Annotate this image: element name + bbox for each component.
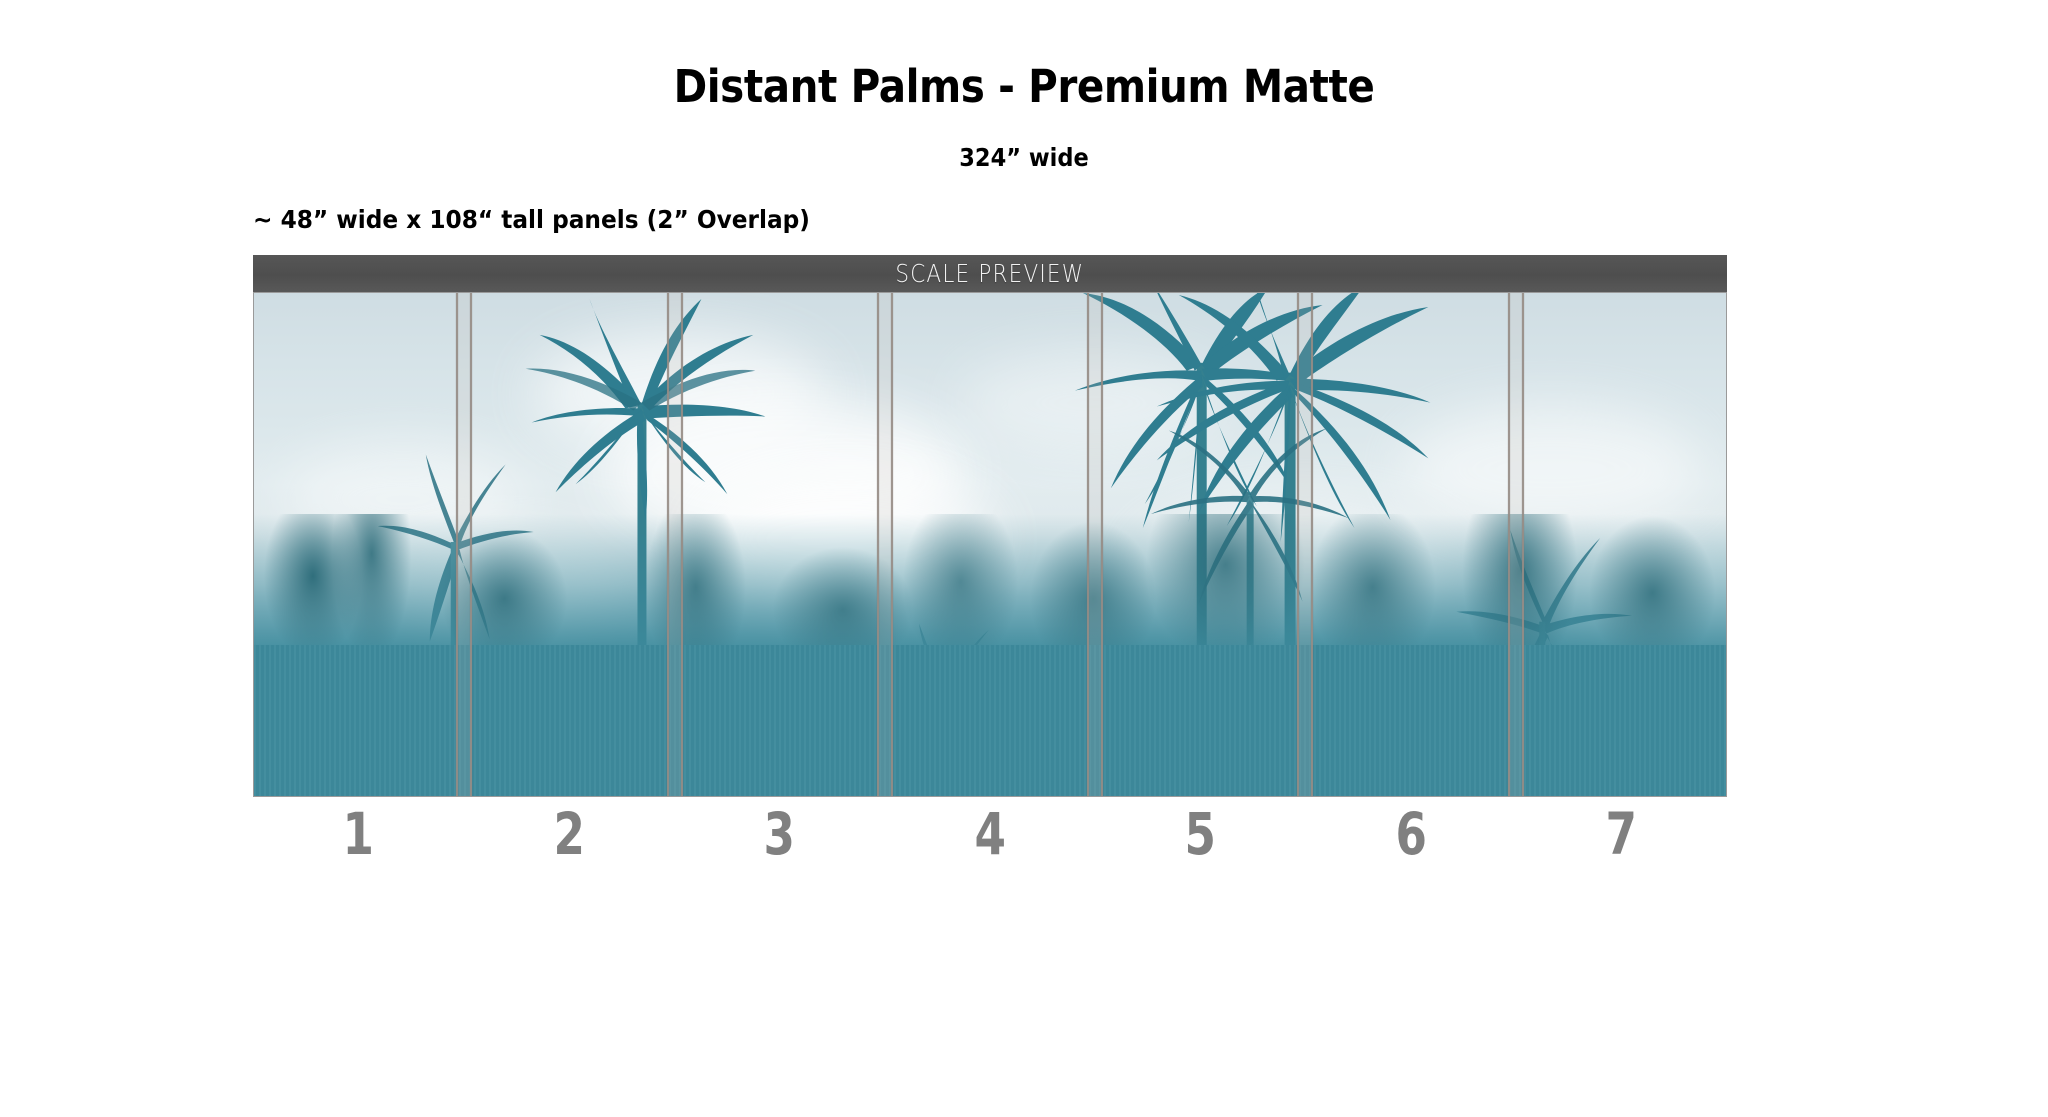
panel-number-5: 5 — [1118, 805, 1282, 863]
panel-number-1: 1 — [276, 805, 440, 863]
panel-spec-label: ~ 48” wide x 108“ tall panels (2” Overla… — [253, 205, 810, 234]
scale-preview-banner-label: SCALE PREVIEW — [896, 259, 1085, 288]
scale-preview-banner: SCALE PREVIEW — [253, 255, 1727, 292]
panel-number-3: 3 — [697, 805, 861, 863]
panel-number-row: 1234567 — [253, 805, 1727, 863]
panel-number-7: 7 — [1540, 805, 1704, 863]
mural-preview-block: SCALE PREVIEW — [253, 255, 1727, 797]
scale-preview-page: Distant Palms - Premium Matte 324” wide … — [0, 0, 2048, 1117]
mural-artwork — [253, 292, 1727, 797]
panel-number-4: 4 — [908, 805, 1072, 863]
page-title: Distant Palms - Premium Matte — [102, 60, 1945, 113]
panel-number-2: 2 — [487, 805, 651, 863]
panel-number-6: 6 — [1329, 805, 1493, 863]
base-color-band — [254, 645, 1726, 796]
mural-width-label: 324” wide — [102, 143, 1945, 172]
